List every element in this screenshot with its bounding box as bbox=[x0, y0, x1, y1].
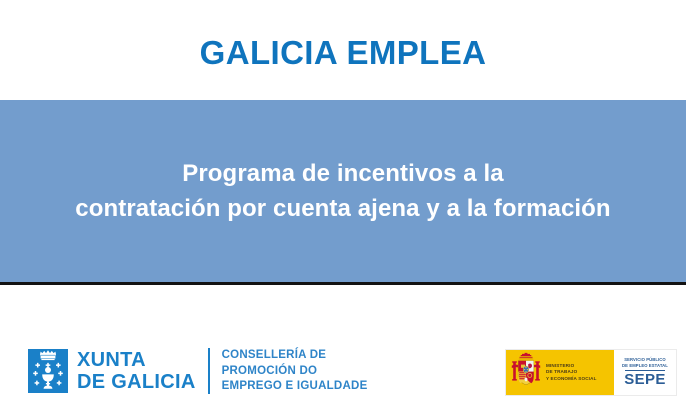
page-title: GALICIA EMPLEA bbox=[200, 32, 487, 69]
spain-coat-of-arms-icon bbox=[511, 352, 541, 393]
sepe-block: SERVICIO PÚBLICO DE EMPLEO ESTATAL SEPE bbox=[614, 350, 676, 395]
xunta-de-galicia-logo: XUNTA DE GALICIA CONSELLERÍA DE PROMOCIÓ… bbox=[28, 348, 368, 395]
sepe-acronym: SEPE bbox=[624, 372, 666, 388]
xunta-coat-of-arms-icon bbox=[28, 349, 68, 393]
xunta-wordmark: XUNTA DE GALICIA bbox=[77, 349, 196, 393]
conselleria-line-3: EMPREGO E IGUALDADE bbox=[222, 379, 368, 395]
conselleria-wordmark: CONSELLERÍA DE PROMOCIÓN DO EMPREGO E IG… bbox=[222, 348, 368, 395]
ministerio-block: MINISTERIO DE TRABAJO Y ECONOMÍA SOCIAL bbox=[506, 350, 614, 395]
ministerio-line-3: Y ECONOMÍA SOCIAL bbox=[546, 376, 597, 382]
title-area: GALICIA EMPLEA bbox=[0, 0, 686, 100]
program-banner: Programa de incentivos a la contratación… bbox=[0, 100, 686, 282]
sepe-fullname-line-2: DE EMPLEO ESTATAL bbox=[622, 363, 668, 368]
banner-line-1: Programa de incentivos a la bbox=[182, 156, 504, 191]
conselleria-line-2: PROMOCIÓN DO bbox=[222, 364, 368, 380]
xunta-wordmark-line-2: DE GALICIA bbox=[77, 371, 196, 393]
ministerio-wordmark: MINISTERIO DE TRABAJO Y ECONOMÍA SOCIAL bbox=[546, 363, 597, 382]
logo-divider bbox=[208, 348, 210, 394]
banner-line-2: contratación por cuenta ajena y a la for… bbox=[75, 191, 610, 226]
xunta-wordmark-line-1: XUNTA bbox=[77, 349, 196, 371]
conselleria-line-1: CONSELLERÍA DE bbox=[222, 348, 368, 364]
gobierno-sepe-logo: MINISTERIO DE TRABAJO Y ECONOMÍA SOCIAL … bbox=[505, 349, 677, 396]
